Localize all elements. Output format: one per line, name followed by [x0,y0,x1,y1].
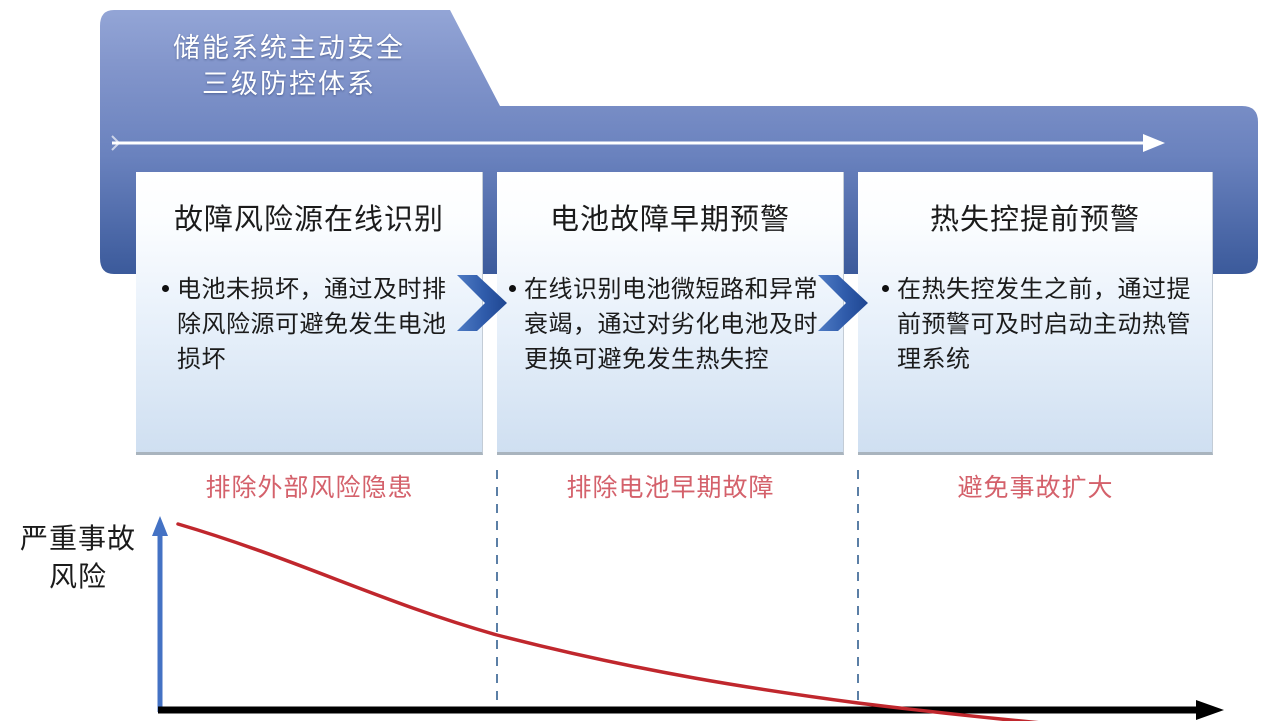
stage-card-1-title: 故障风险源在线识别 [136,196,482,238]
chevron-right-icon [455,272,511,334]
chart-risk-curve [178,524,1172,721]
stage-card-3-body: 在热失控发生之前，通过提前预警可及时启动主动热管理系统 [882,272,1194,377]
stage-card-2-bullet: 在线识别电池微短路和异常衰竭，通过对劣化电池及时更换可避免发生热失控 [524,272,833,377]
stage-card-3-title: 热失控提前预警 [858,196,1212,238]
chart-plot [0,460,1269,721]
banner-title: 储能系统主动安全 三级防控体系 [124,30,454,102]
chart-y-axis-label: 严重事故 风险 [8,520,148,596]
chart-x-axis [158,700,1224,720]
risk-decay-chart: 严重事故 风险 [0,460,1269,721]
stage-card-2-body: 在线识别电池微短路和异常衰竭，通过对劣化电池及时更换可避免发生热失控 [509,272,833,377]
stage-card-3-bullet: 在热失控发生之前，通过提前预警可及时启动主动热管理系统 [897,272,1194,377]
stage-card-1-bullet: 电池未损坏，通过及时排除风险源可避免发生电池损坏 [177,272,456,377]
bullet-icon [162,285,169,292]
stage-card-2[interactable]: 电池故障早期预警 在线识别电池微短路和异常衰竭，通过对劣化电池及时更换可避免发生… [497,172,844,455]
stage-card-1[interactable]: 故障风险源在线识别 电池未损坏，通过及时排除风险源可避免发生电池损坏 [136,172,483,455]
stage-card-3[interactable]: 热失控提前预警 在热失控发生之前，通过提前预警可及时启动主动热管理系统 [858,172,1213,455]
chevron-right-icon [816,272,872,334]
stage-card-1-body: 电池未损坏，通过及时排除风险源可避免发生电池损坏 [162,272,456,377]
slide-canvas: 储能系统主动安全 三级防控体系 故障风险源在线识别 电池未损坏，通过及时排除风险… [0,0,1269,721]
chart-y-axis [152,516,168,712]
stage-card-2-title: 电池故障早期预警 [497,196,843,238]
bullet-icon [882,285,889,292]
